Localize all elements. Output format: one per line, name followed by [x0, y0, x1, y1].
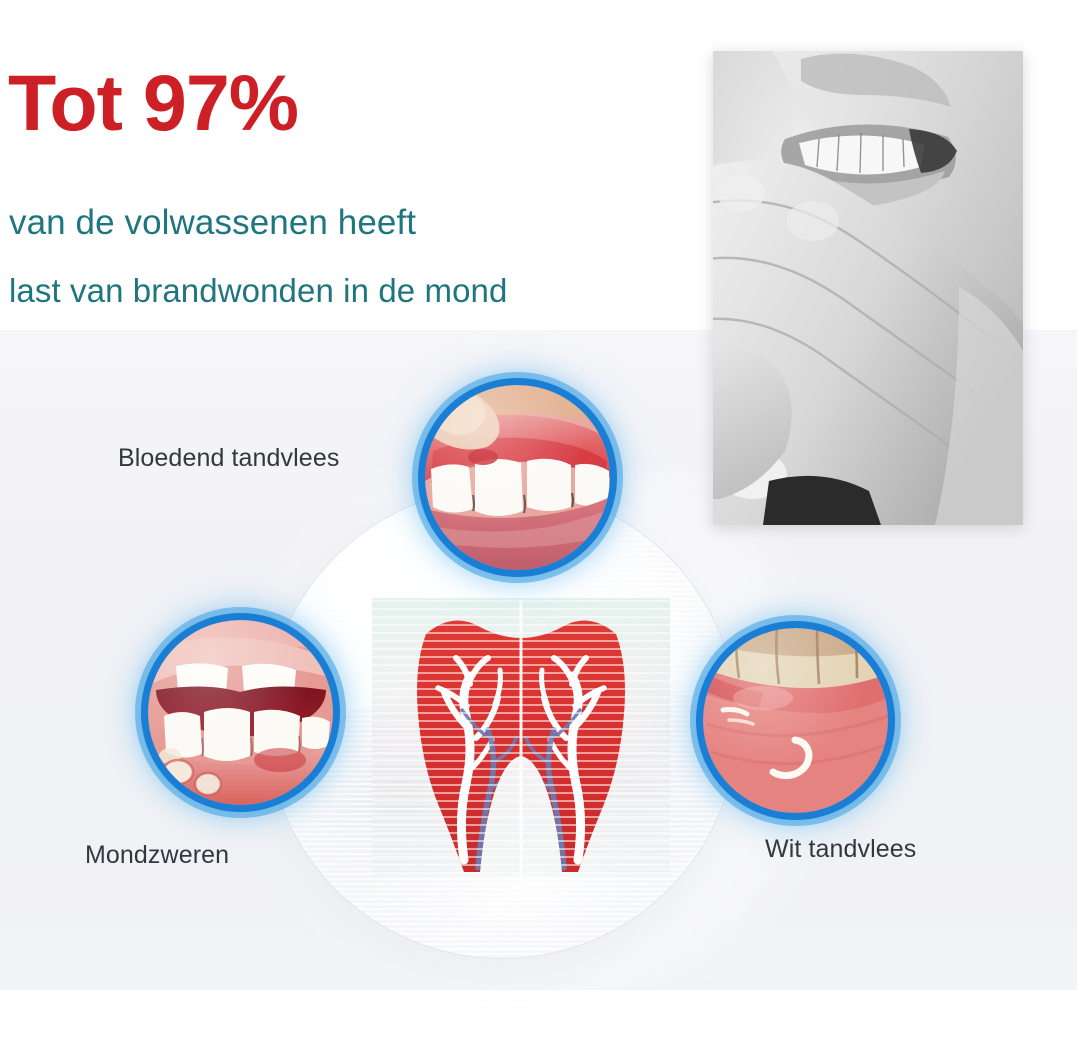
callout-label-white-gums: Wit tandvlees	[765, 835, 916, 864]
mouth-ulcers-photo	[148, 620, 333, 805]
scanline-overlay	[372, 600, 670, 874]
white-gums-photo	[703, 628, 888, 813]
callout-image-mouth-ulcers	[148, 620, 333, 805]
bleeding-gums-artwork	[425, 385, 610, 570]
background-footer	[0, 990, 1077, 1044]
hero-photo-artwork	[713, 51, 1023, 525]
tooth-anatomy-artwork	[366, 588, 676, 888]
mouth-ulcers-artwork	[148, 620, 333, 805]
white-gums-artwork	[703, 628, 888, 813]
promo-banner: Tot 97% van de volwassenen heeft last va…	[0, 0, 1077, 1044]
subheadline-line-2: last van brandwonden in de mond	[9, 272, 507, 310]
bleeding-gums-photo	[425, 385, 610, 570]
tooth-anatomy-illustration	[366, 588, 676, 888]
subheadline-line-1: van de volwassenen heeft	[9, 203, 416, 243]
stat-headline: Tot 97%	[8, 63, 298, 142]
callout-image-white-gums	[703, 628, 888, 813]
callout-label-bleeding-gums: Bloedend tandvlees	[118, 444, 339, 473]
callout-image-bleeding-gums	[425, 385, 610, 570]
callout-label-mouth-ulcers: Mondzweren	[85, 841, 229, 870]
hero-photo	[713, 51, 1023, 525]
headline-block: Tot 97%	[8, 63, 298, 142]
